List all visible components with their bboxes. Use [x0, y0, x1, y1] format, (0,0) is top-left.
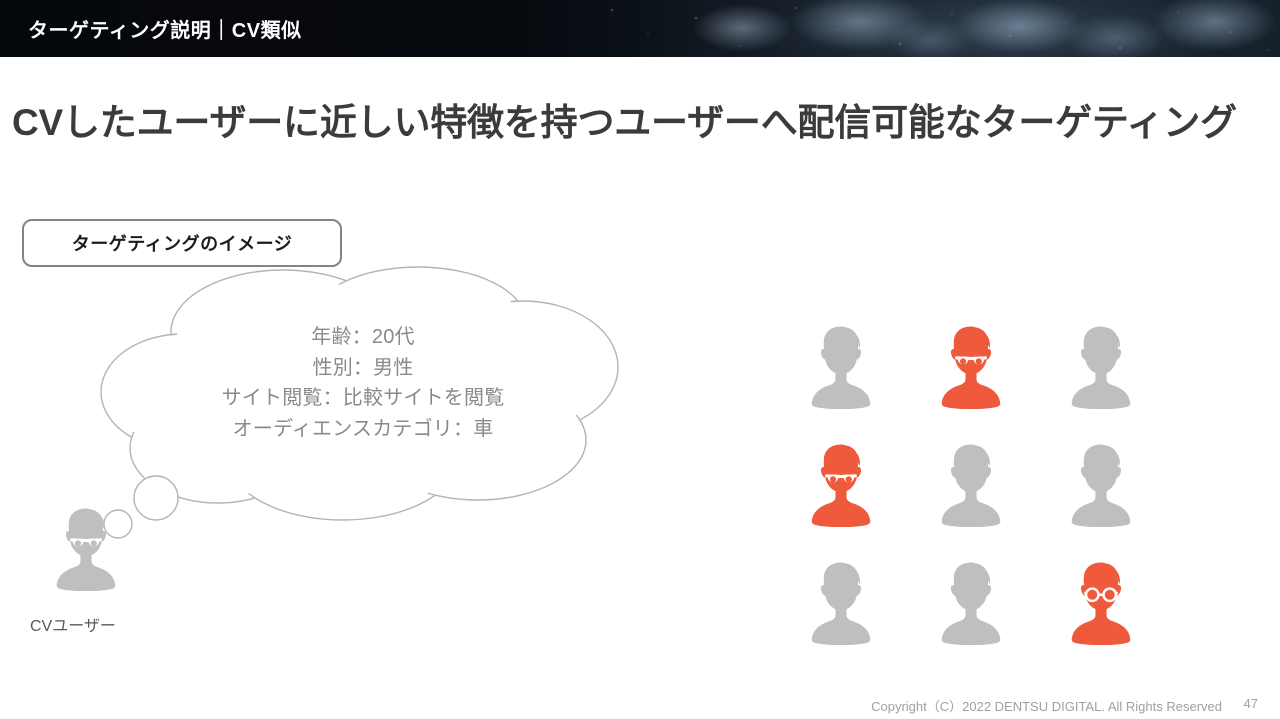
person-icon — [933, 441, 1009, 527]
cloud-line-gender: 性別：男性 — [78, 353, 648, 384]
person-icon — [933, 559, 1009, 645]
person-highlight-1 — [926, 316, 1016, 416]
thought-cloud-text: 年齢：20代 性別：男性 サイト閲覧：比較サイトを閲覧 オーディエンスカテゴリ：… — [78, 322, 648, 444]
person-with-glasses-icon — [803, 441, 879, 527]
section-chip-label: ターゲティングのイメージ — [72, 230, 293, 256]
cv-user-figure — [48, 505, 124, 591]
page-title: CVしたユーザーに近しい特徴を持つユーザーへ配信可能なターゲティング — [12, 92, 1272, 146]
cloud-line-age: 年齢：20代 — [78, 322, 648, 353]
person-with-glasses-icon — [48, 505, 124, 591]
cloud-line-category: オーディエンスカテゴリ：車 — [78, 414, 648, 445]
person-gray-4 — [1056, 434, 1146, 534]
person-with-round-glasses-icon — [1063, 559, 1139, 645]
person-highlight-3 — [1056, 552, 1146, 652]
cloud-line-browsing: サイト閲覧：比較サイトを閲覧 — [78, 383, 648, 414]
person-icon — [803, 559, 879, 645]
person-icon — [1063, 323, 1139, 409]
person-gray-6 — [926, 552, 1016, 652]
cv-user-label: CVユーザー — [30, 616, 122, 638]
header-title: ターゲティング説明｜CV類似 — [28, 14, 302, 43]
person-with-glasses-icon — [933, 323, 1009, 409]
section-chip: ターゲティングのイメージ — [22, 219, 342, 267]
person-highlight-2 — [796, 434, 886, 534]
thought-cloud: 年齢：20代 性別：男性 サイト閲覧：比較サイトを閲覧 オーディエンスカテゴリ：… — [78, 262, 648, 532]
header-band: ターゲティング説明｜CV類似 — [0, 0, 1280, 57]
header-texture-overlay — [600, 0, 1280, 57]
footer: Copyright（C）2022 DENTSU DIGITAL. All Rig… — [0, 696, 1280, 719]
person-gray-5 — [796, 552, 886, 652]
footer-copyright: Copyright（C）2022 DENTSU DIGITAL. All Rig… — [871, 696, 1222, 715]
footer-page-number: 47 — [1244, 696, 1258, 711]
audience-grid — [796, 316, 1146, 652]
person-gray-2 — [1056, 316, 1146, 416]
person-icon — [1063, 441, 1139, 527]
person-icon — [803, 323, 879, 409]
person-gray-1 — [796, 316, 886, 416]
person-gray-3 — [926, 434, 1016, 534]
